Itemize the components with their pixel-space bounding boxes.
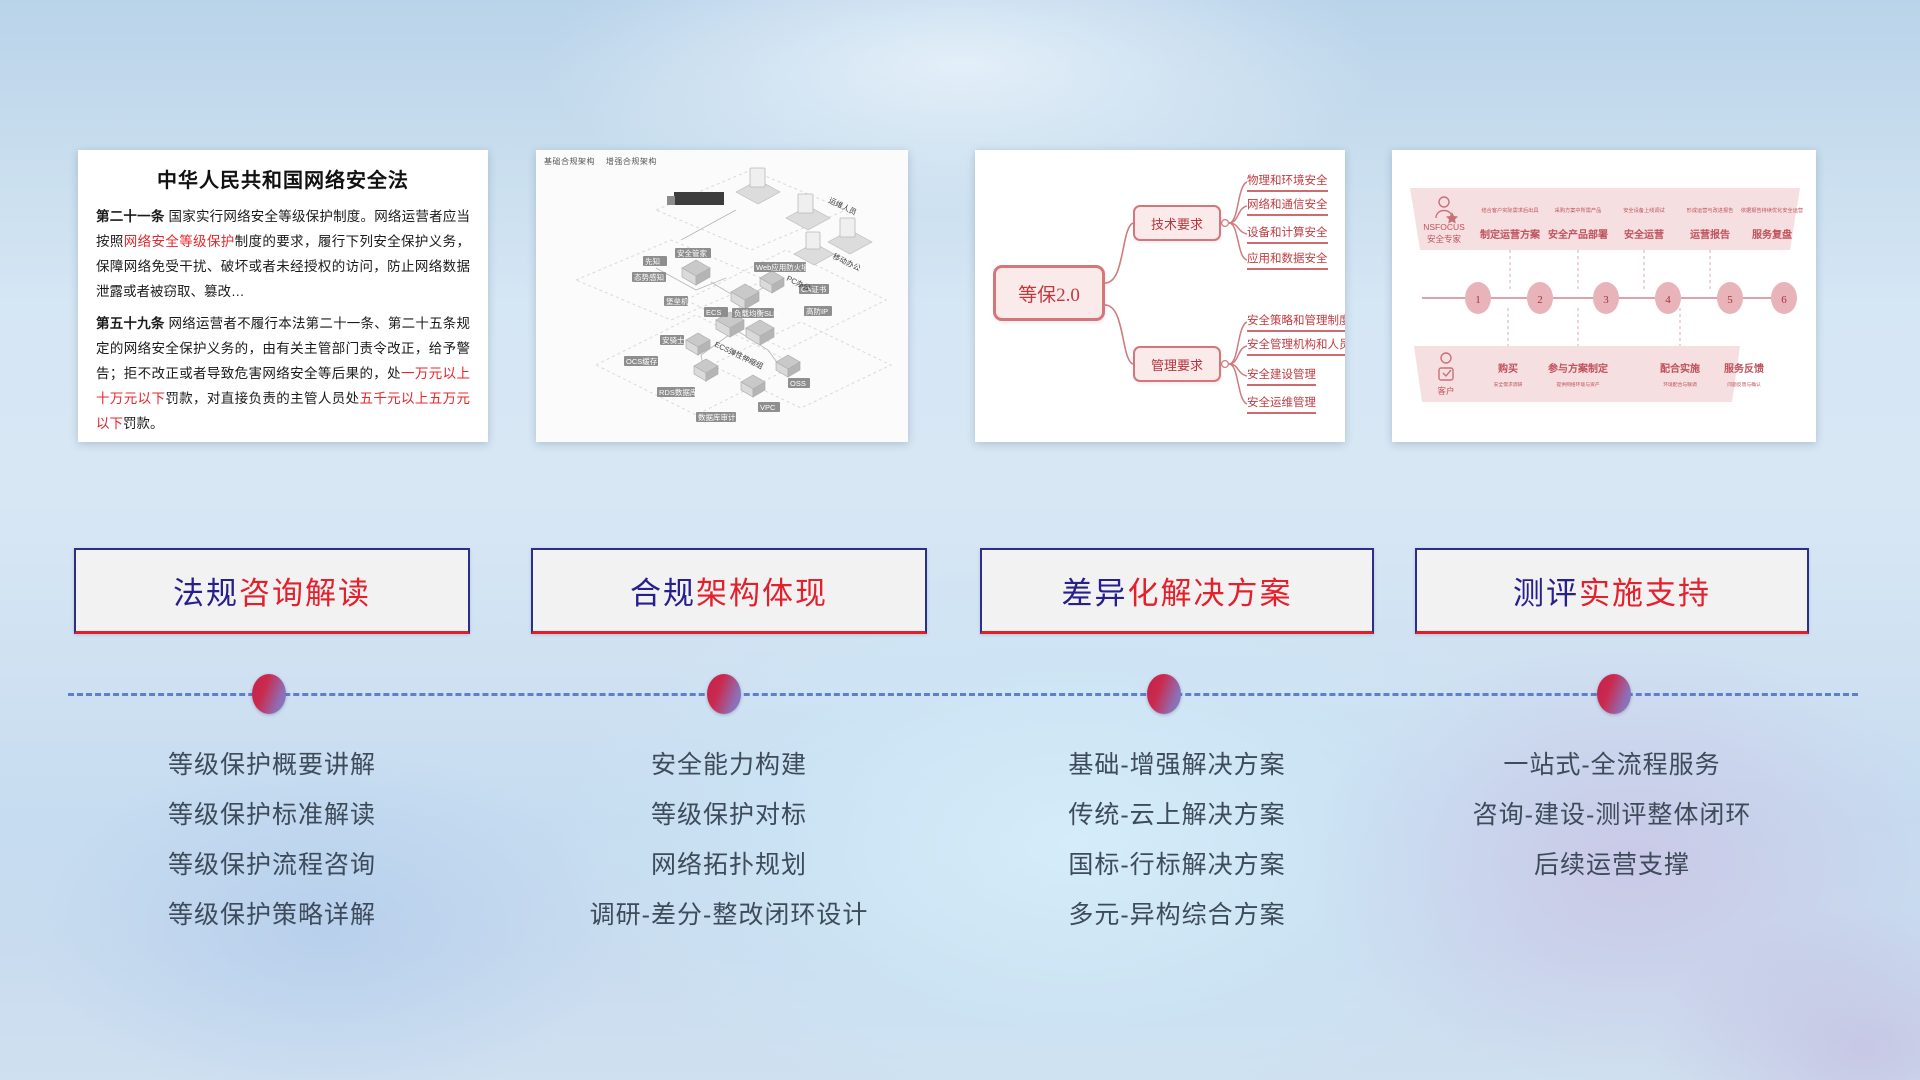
headline-text-4: 测评实施支持 bbox=[1513, 568, 1711, 613]
svg-text:安全设备上线调试: 安全设备上线调试 bbox=[1623, 206, 1665, 214]
svg-text:安全管家: 安全管家 bbox=[677, 248, 707, 258]
svg-text:4: 4 bbox=[1665, 294, 1671, 306]
timeline-dashed-line bbox=[68, 693, 1858, 696]
svg-text:移动办公: 移动办公 bbox=[831, 251, 863, 273]
architecture-diagram: 基础合规架构 增强合规架构 bbox=[536, 150, 908, 442]
article-59-text-c: 罚款。 bbox=[123, 416, 164, 431]
svg-text:形成运营与改进报告: 形成运营与改进报告 bbox=[1687, 206, 1734, 214]
list-item[interactable]: 传统-云上解决方案 bbox=[980, 790, 1374, 840]
headline-4-navy: 测评 bbox=[1513, 576, 1579, 611]
list-item[interactable]: 等级保护概要讲解 bbox=[74, 740, 470, 790]
mindmap-leaf-mgmt-1[interactable]: 安全策略和管理制度 bbox=[1247, 312, 1345, 332]
mindmap-leaf-mgmt-3[interactable]: 安全建设管理 bbox=[1247, 366, 1316, 386]
headline-box-compliance-architecture[interactable]: 合规架构体现 bbox=[531, 548, 927, 634]
mindmap-leaf-mgmt-2[interactable]: 安全管理机构和人员 bbox=[1247, 336, 1345, 356]
headline-box-assessment-support[interactable]: 测评实施支持 bbox=[1415, 548, 1809, 634]
svg-text:OCS缓存: OCS缓存 bbox=[626, 356, 658, 366]
timeline-node-2[interactable] bbox=[707, 674, 741, 714]
list-item[interactable]: 后续运营支撑 bbox=[1415, 840, 1809, 890]
mindmap-leaf-tech-4[interactable]: 应用和数据安全 bbox=[1247, 250, 1328, 270]
article-21-highlight: 网络安全等级保护 bbox=[124, 234, 235, 249]
headline-box-differentiated-solution[interactable]: 差异化解决方案 bbox=[980, 548, 1374, 634]
headline-3-navy: 差异 bbox=[1062, 576, 1128, 611]
detail-list-row: 等级保护概要讲解 等级保护标准解读 等级保护流程咨询 等级保护策略详解 安全能力… bbox=[0, 740, 1920, 1040]
svg-text:配合实施: 配合实施 bbox=[1660, 362, 1700, 375]
mindmap-leaf-mgmt-4[interactable]: 安全运维管理 bbox=[1247, 394, 1316, 414]
svg-text:先知: 先知 bbox=[645, 256, 660, 266]
headline-text-1: 法规咨询解读 bbox=[173, 568, 371, 613]
headline-1-red: 咨询解读 bbox=[239, 576, 371, 611]
list-item[interactable]: 多元-异构综合方案 bbox=[980, 890, 1374, 940]
svg-text:3: 3 bbox=[1603, 294, 1609, 306]
mindmap-diagram: 等保2.0 技术要求 管理要求 物理和环境安全 网络和通信安全 设备和计算安全 … bbox=[975, 150, 1345, 442]
svg-text:提供网络环境与资产: 提供网络环境与资产 bbox=[1556, 381, 1599, 388]
svg-text:安全需求调研: 安全需求调研 bbox=[1494, 381, 1523, 388]
timeline-node-1[interactable] bbox=[252, 674, 286, 714]
mindmap-branch-technical[interactable]: 技术要求 bbox=[1133, 205, 1221, 241]
svg-text:安全运营: 安全运营 bbox=[1624, 228, 1664, 241]
card-cloud-architecture[interactable]: 基础合规架构 增强合规架构 bbox=[536, 150, 908, 442]
list-item[interactable]: 调研-差分-整改闭环设计 bbox=[531, 890, 927, 940]
svg-text:ECS: ECS bbox=[706, 308, 721, 317]
svg-text:服务反馈: 服务反馈 bbox=[1724, 362, 1764, 375]
svg-text:参与方案制定: 参与方案制定 bbox=[1548, 362, 1608, 375]
svg-text:1: 1 bbox=[1475, 294, 1481, 306]
svg-text:结合客户实际需求后出具: 结合客户实际需求后出具 bbox=[1481, 206, 1538, 214]
timeline-node-3[interactable] bbox=[1147, 674, 1181, 714]
article-21-label: 第二十一条 bbox=[96, 209, 165, 224]
headline-1-navy: 法规 bbox=[173, 576, 239, 611]
slide-stage: 中华人民共和国网络安全法 第二十一条 国家实行网络安全等级保护制度。网络运营者应… bbox=[0, 0, 1920, 1080]
svg-text:5: 5 bbox=[1727, 294, 1733, 306]
svg-text:堡垒机: 堡垒机 bbox=[666, 296, 689, 306]
mindmap-root[interactable]: 等保2.0 bbox=[993, 265, 1105, 321]
law-document: 中华人民共和国网络安全法 第二十一条 国家实行网络安全等级保护制度。网络运营者应… bbox=[78, 150, 488, 442]
list-item[interactable]: 等级保护流程咨询 bbox=[74, 840, 470, 890]
svg-text:安骑士: 安骑士 bbox=[662, 335, 685, 345]
list-item[interactable]: 国标-行标解决方案 bbox=[980, 840, 1374, 890]
svg-text:安全产品部署: 安全产品部署 bbox=[1548, 228, 1608, 241]
svg-text:依据报告持续优化安全运营: 依据报告持续优化安全运营 bbox=[1741, 206, 1803, 214]
list-item[interactable]: 安全能力构建 bbox=[531, 740, 927, 790]
headline-4-red: 实施支持 bbox=[1579, 576, 1711, 611]
svg-text:6: 6 bbox=[1781, 294, 1787, 306]
svg-text:购买: 购买 bbox=[1498, 362, 1518, 375]
law-title: 中华人民共和国网络安全法 bbox=[96, 164, 470, 193]
detail-list-regulation: 等级保护概要讲解 等级保护标准解读 等级保护流程咨询 等级保护策略详解 bbox=[74, 740, 470, 940]
timeline-expert-line1: NSFOCUS bbox=[1423, 222, 1465, 232]
mindmap-leaf-tech-1[interactable]: 物理和环境安全 bbox=[1247, 172, 1328, 192]
timeline-node-4[interactable] bbox=[1597, 674, 1631, 714]
article-59-label: 第五十九条 bbox=[96, 316, 165, 331]
svg-text:VPC: VPC bbox=[760, 403, 776, 412]
timeline-diagram: NSFOCUS 安全专家 客户 结合客户实际需求后出具 制定运营方案 采购方案中… bbox=[1392, 150, 1816, 442]
mindmap-branch-management[interactable]: 管理要求 bbox=[1133, 346, 1221, 382]
svg-text:运维人员: 运维人员 bbox=[827, 195, 859, 217]
list-item[interactable]: 咨询-建设-测评整体闭环 bbox=[1415, 790, 1809, 840]
headline-2-red: 架构体现 bbox=[696, 576, 828, 611]
svg-text:Web应用防火墙: Web应用防火墙 bbox=[756, 262, 809, 272]
svg-text:问题反馈与确认: 问题反馈与确认 bbox=[1727, 381, 1761, 388]
mindmap-leaf-tech-3[interactable]: 设备和计算安全 bbox=[1247, 224, 1328, 244]
list-item[interactable]: 基础-增强解决方案 bbox=[980, 740, 1374, 790]
svg-text:服务复盘: 服务复盘 bbox=[1752, 228, 1792, 241]
detail-list-solution: 基础-增强解决方案 传统-云上解决方案 国标-行标解决方案 多元-异构综合方案 bbox=[980, 740, 1374, 940]
progress-timeline bbox=[0, 665, 1920, 721]
svg-text:采购方案中所需产品: 采购方案中所需产品 bbox=[1555, 206, 1602, 214]
svg-text:高防IP: 高防IP bbox=[806, 306, 828, 316]
headline-3-red: 化解决方案 bbox=[1128, 576, 1293, 611]
svg-text:运营报告: 运营报告 bbox=[1690, 228, 1730, 241]
list-item[interactable]: 等级保护对标 bbox=[531, 790, 927, 840]
headline-box-regulation-consulting[interactable]: 法规咨询解读 bbox=[74, 548, 470, 634]
timeline-canvas: NSFOCUS 安全专家 客户 结合客户实际需求后出具 制定运营方案 采购方案中… bbox=[1392, 150, 1816, 442]
svg-text:环境配合与联调: 环境配合与联调 bbox=[1663, 381, 1697, 388]
list-item[interactable]: 等级保护策略详解 bbox=[74, 890, 470, 940]
architecture-canvas: 先知 态势感知 安全管家 堡垒机 安骑士 OCS缓存 RDS数据库 bbox=[536, 150, 908, 442]
law-article-59: 第五十九条 网络运营者不履行本法第二十一条、第二十五条规定的网络安全保护义务的，… bbox=[96, 312, 470, 437]
svg-text:负载均衡SLB: 负载均衡SLB bbox=[734, 308, 778, 318]
detail-list-assessment: 一站式-全流程服务 咨询-建设-测评整体闭环 后续运营支撑 bbox=[1415, 740, 1809, 890]
timeline-expert-line2: 安全专家 bbox=[1427, 234, 1462, 244]
timeline-customer-label: 客户 bbox=[1437, 386, 1454, 396]
detail-list-architecture: 安全能力构建 等级保护对标 网络拓扑规划 调研-差分-整改闭环设计 bbox=[531, 740, 927, 940]
article-59-text-b: 罚款，对直接负责的主管人员处 bbox=[165, 391, 359, 406]
svg-text:PC办公: PC办公 bbox=[785, 273, 813, 293]
card-cybersecurity-law[interactable]: 中华人民共和国网络安全法 第二十一条 国家实行网络安全等级保护制度。网络运营者应… bbox=[78, 150, 488, 442]
headline-text-3: 差异化解决方案 bbox=[1062, 568, 1293, 613]
svg-text:态势感知: 态势感知 bbox=[634, 272, 664, 282]
mindmap-leaf-tech-2[interactable]: 网络和通信安全 bbox=[1247, 196, 1328, 216]
svg-text:数据库审计: 数据库审计 bbox=[698, 412, 736, 422]
image-card-row: 中华人民共和国网络安全法 第二十一条 国家实行网络安全等级保护制度。网络运营者应… bbox=[0, 150, 1920, 450]
law-article-21: 第二十一条 国家实行网络安全等级保护制度。网络运营者应当按照网络安全等级保护制度… bbox=[96, 205, 470, 305]
list-item[interactable]: 等级保护标准解读 bbox=[74, 790, 470, 840]
svg-text:OSS: OSS bbox=[790, 379, 806, 388]
svg-text:2: 2 bbox=[1537, 294, 1543, 306]
list-item[interactable]: 网络拓扑规划 bbox=[531, 840, 927, 890]
card-mindmap[interactable]: 等保2.0 技术要求 管理要求 物理和环境安全 网络和通信安全 设备和计算安全 … bbox=[975, 150, 1345, 442]
headline-row: 法规咨询解读 合规架构体现 差异化解决方案 测评实施支持 bbox=[0, 548, 1920, 640]
card-service-timeline[interactable]: NSFOCUS 安全专家 客户 结合客户实际需求后出具 制定运营方案 采购方案中… bbox=[1392, 150, 1816, 442]
list-item[interactable]: 一站式-全流程服务 bbox=[1415, 740, 1809, 790]
svg-text:RDS数据库: RDS数据库 bbox=[659, 387, 698, 397]
svg-text:制定运营方案: 制定运营方案 bbox=[1480, 228, 1541, 241]
headline-text-2: 合规架构体现 bbox=[630, 568, 828, 613]
headline-2-navy: 合规 bbox=[630, 576, 696, 611]
